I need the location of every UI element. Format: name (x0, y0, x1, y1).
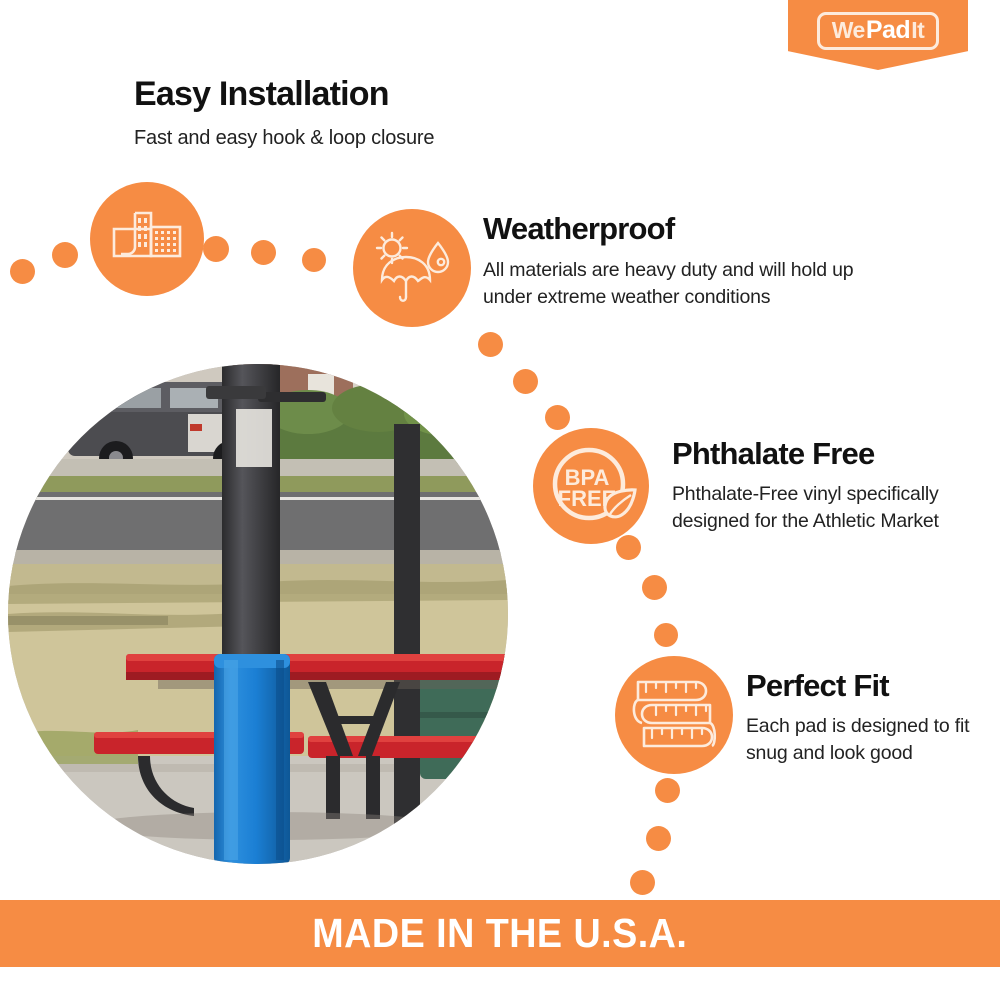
trail-dot (10, 259, 35, 284)
trail-dot (251, 240, 276, 265)
feature-description: All materials are heavy duty and will ho… (483, 257, 903, 311)
trail-dot (642, 575, 667, 600)
feature-icon-circle-weatherproof (353, 209, 471, 327)
velcro-hook-loop-icon (111, 209, 183, 269)
trail-dot (616, 535, 641, 560)
brand-logo-frame: We Pad It (817, 12, 940, 50)
trail-dot (545, 405, 570, 430)
brand-logo-text-we: We (832, 19, 865, 42)
trail-dot (302, 248, 326, 272)
trail-dot (655, 778, 680, 803)
feature-icon-circle-phthalate-free: BPA FREE (533, 428, 649, 544)
brand-logo-text-it: It (911, 19, 924, 42)
trail-dot (203, 236, 229, 262)
feature-block-weatherproof: Weatherproof All materials are heavy dut… (483, 212, 903, 311)
brand-logo-text-pad: Pad (866, 18, 910, 43)
trail-dot (513, 369, 538, 394)
product-photo-illustration (8, 364, 508, 864)
brand-logo-badge: We Pad It (788, 0, 968, 70)
feature-description: Each pad is designed to fit snug and loo… (746, 713, 986, 767)
trail-dot (654, 623, 678, 647)
bpa-free-leaf-icon: BPA FREE (543, 438, 639, 534)
umbrella-sun-rain-icon (373, 231, 451, 305)
feature-block-phthalate-free: Phthalate Free Phthalate-Free vinyl spec… (672, 437, 982, 535)
trail-dot (478, 332, 503, 357)
feature-block-perfect-fit: Perfect Fit Each pad is designed to fit … (746, 669, 986, 767)
feature-title: Phthalate Free (672, 437, 982, 471)
trail-dot (630, 870, 655, 895)
trail-dot (52, 242, 78, 268)
trail-dot (646, 826, 671, 851)
feature-description: Fast and easy hook & loop closure (134, 125, 594, 151)
feature-icon-circle-perfect-fit (615, 656, 733, 774)
feature-title: Weatherproof (483, 212, 903, 246)
made-in-usa-text: MADE IN THE U.S.A. (312, 910, 687, 957)
feature-block-easy-installation: Easy Installation Fast and easy hook & l… (134, 76, 594, 151)
feature-title: Easy Installation (134, 76, 594, 113)
product-feature-infographic: We Pad It Easy Installation Fast and eas… (0, 0, 1000, 987)
made-in-usa-banner: MADE IN THE U.S.A. (0, 900, 1000, 967)
feature-description: Phthalate-Free vinyl specifically design… (672, 481, 982, 535)
product-photo (8, 364, 508, 864)
feature-icon-circle-easy-installation (90, 182, 204, 296)
feature-title: Perfect Fit (746, 669, 986, 703)
measuring-tape-icon (630, 672, 718, 758)
